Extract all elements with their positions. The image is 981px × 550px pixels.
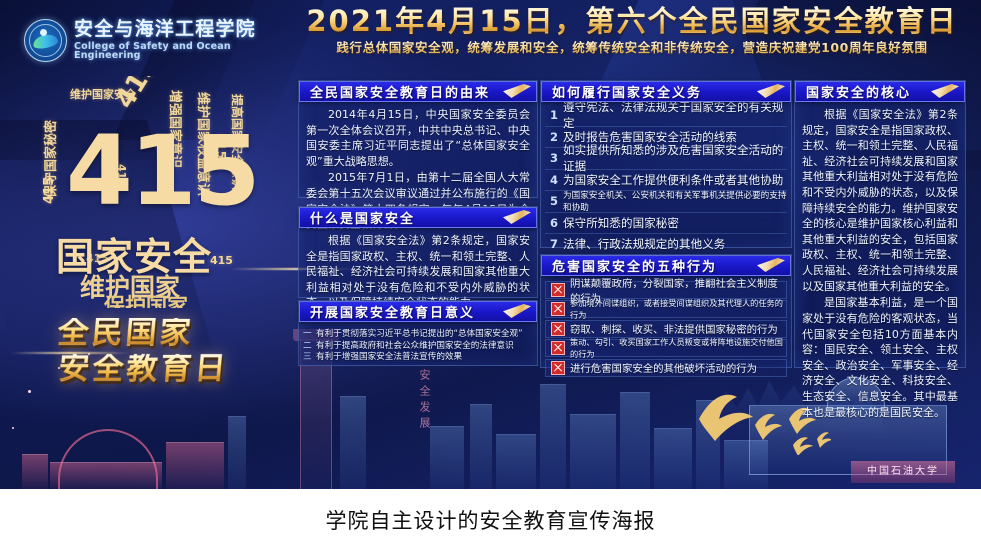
row-text: 为国家安全机关、公安机关和有关军事机关提供必要的支持和协助 bbox=[563, 189, 787, 213]
item-text: 有利于贯彻落实习近平总书记提出的“总体国家安全观” bbox=[316, 327, 523, 339]
row-number: 2 bbox=[545, 130, 563, 144]
item-text: 参加境外间谍组织，或者接受间谍组织及其代理人的任务的行为 bbox=[570, 297, 786, 321]
ribbon-icon bbox=[757, 84, 785, 98]
panel-what: 什么是国家安全 根据《国家安全法》第2条规定，国家安全是指国家政权、主权、统一和… bbox=[298, 206, 538, 298]
row-text: 保守所知悉的国家秘密 bbox=[563, 215, 679, 231]
paragraph: 根据《国家安全法》第2条规定，国家安全是指国家政权、主权、统一和领土完整、人民福… bbox=[802, 107, 958, 294]
panel-core: 国家安全的核心 根据《国家安全法》第2条规定，国家安全是指国家政权、主权、统一和… bbox=[794, 80, 966, 368]
panel-acts: 危害国家安全的五种行为 阴谋颠覆政府，分裂国家，推翻社会主义制度的行为 参加境外… bbox=[540, 254, 792, 368]
college-logo: 安全与海洋工程学院 College of Safety and Ocean En… bbox=[24, 12, 279, 68]
list-item: 窃取、刺探、收买、非法提供国家秘密的行为 bbox=[545, 320, 787, 338]
panel-what-header: 什么是国家安全 bbox=[299, 207, 537, 228]
ribbon-icon bbox=[503, 304, 531, 318]
item-text: 有利于提高政府和社会公众维护国家安全的法律意识 bbox=[316, 339, 514, 351]
list-item: 二有利于提高政府和社会公众维护国家安全的法律意识 bbox=[303, 339, 533, 351]
word-cloud-shield: 保守国家秘密 维护国家安全 增强国家意识 维护国家权益意识 提高国家安全意识 4… bbox=[28, 76, 296, 308]
pagoda-label: 安全发展 bbox=[372, 369, 432, 479]
wordmark-line-1: 全民国家 bbox=[56, 318, 233, 349]
list-item: 策动、勾引、收买国家工作人员叛变或将阵地设施交付他国的行为 bbox=[545, 339, 787, 357]
list-item: 进行危害国家安全的其他破坏活动的行为 bbox=[545, 359, 787, 377]
prohibited-icon bbox=[551, 341, 565, 355]
panel-origin-header: 全民国家安全教育日的由来 bbox=[299, 81, 537, 102]
panel-meaning: 开展国家安全教育日意义 一有利于贯彻落实习近平总书记提出的“总体国家安全观” 二… bbox=[298, 300, 538, 366]
acts-list: 阴谋颠覆政府，分裂国家，推翻社会主义制度的行为 参加境外间谍组织，或者接受间谍组… bbox=[541, 276, 791, 377]
panel-core-body: 根据《国家安全法》第2条规定，国家安全是指国家政权、主权、统一和领土完整、人民福… bbox=[795, 102, 965, 424]
row-text: 遵守宪法、法律法规关于国家安全的有关规定 bbox=[563, 99, 787, 131]
row-number: 4 bbox=[545, 173, 563, 187]
panel-core-title: 国家安全的核心 bbox=[796, 82, 911, 101]
row-number: 6 bbox=[545, 216, 563, 230]
row-number: 5 bbox=[545, 194, 563, 208]
cloud-number: 415 bbox=[42, 177, 57, 204]
panel-acts-title: 危害国家安全的五种行为 bbox=[542, 256, 717, 275]
prohibited-icon bbox=[551, 322, 565, 336]
panel-duties-header: 如何履行国家安全义务 bbox=[541, 81, 791, 102]
college-name-cn: 安全与海洋工程学院 bbox=[74, 20, 279, 39]
poster-subtitle: 践行总体国家安全观，统筹发展和安全，统筹传统安全和非传统安全，营造庆祝建党100… bbox=[292, 41, 972, 55]
cloud-big-number: 415 bbox=[66, 128, 257, 214]
list-item: 阴谋颠覆政府，分裂国家，推翻社会主义制度的行为 bbox=[545, 281, 787, 299]
table-row: 7法律、行政法规规定的其他义务 bbox=[545, 234, 787, 255]
paragraph: 是国家基本利益，是一个国家处于没有危险的客观状态，当代国家安全包括10方面基本内… bbox=[802, 295, 958, 420]
panel-meaning-title: 开展国家安全教育日意义 bbox=[300, 302, 475, 321]
table-row: 6保守所知悉的国家秘密 bbox=[545, 213, 787, 235]
prohibited-icon bbox=[551, 361, 565, 375]
panel-acts-header: 危害国家安全的五种行为 bbox=[541, 255, 791, 276]
row-number: 7 bbox=[545, 237, 563, 251]
poster-title-block: 2021年4月15日，第六个全民国家安全教育日 践行总体国家安全观，统筹发展和安… bbox=[292, 6, 972, 55]
row-number: 3 bbox=[545, 151, 563, 165]
panel-duties: 如何履行国家安全义务 1遵守宪法、法律法规关于国家安全的有关规定 2及时报告危害… bbox=[540, 80, 792, 248]
panel-origin: 全民国家安全教育日的由来 2014年4月15日，中央国家安全委员会第一次全体会议… bbox=[298, 80, 538, 198]
panel-duties-title: 如何履行国家安全义务 bbox=[542, 82, 702, 101]
item-text: 进行危害国家安全的其他破坏活动的行为 bbox=[570, 360, 757, 375]
poster: 安全发展 中国石油大学 安全与海洋工程 bbox=[0, 0, 981, 489]
poster-title: 2021年4月15日，第六个全民国家安全教育日 bbox=[292, 6, 972, 37]
meaning-list: 一有利于贯彻落实习近平总书记提出的“总体国家安全观” 二有利于提高政府和社会公众… bbox=[299, 322, 537, 362]
panel-core-header: 国家安全的核心 bbox=[795, 81, 965, 102]
row-text: 为国家安全工作提供便利条件或者其他协助 bbox=[563, 172, 783, 188]
event-wordmark: 全民国家 安全教育日 bbox=[53, 318, 233, 385]
image-caption: 学院自主设计的安全教育宣传海报 bbox=[0, 489, 981, 550]
table-row: 4为国家安全工作提供便利条件或者其他协助 bbox=[545, 170, 787, 192]
table-row: 5为国家安全机关、公安机关和有关军事机关提供必要的支持和协助 bbox=[545, 191, 787, 213]
panel-meaning-header: 开展国家安全教育日意义 bbox=[299, 301, 537, 322]
caption-text: 学院自主设计的安全教育宣传海报 bbox=[326, 505, 656, 535]
wordmark-line-2: 安全教育日 bbox=[57, 354, 230, 385]
row-number: 1 bbox=[545, 108, 563, 122]
ribbon-icon bbox=[503, 210, 531, 224]
row-text: 法律、行政法规规定的其他义务 bbox=[563, 236, 725, 252]
list-item: 参加境外间谍组织，或者接受间谍组织及其代理人的任务的行为 bbox=[545, 300, 787, 318]
prohibited-icon bbox=[551, 283, 565, 297]
row-text: 如实提供所知悉的涉及危害国家安全活动的证据 bbox=[563, 142, 787, 174]
table-row: 3如实提供所知悉的涉及危害国家安全活动的证据 bbox=[545, 148, 787, 170]
college-emblem-icon bbox=[24, 19, 67, 62]
list-item: 一有利于贯彻落实习近平总书记提出的“总体国家安全观” bbox=[303, 327, 533, 339]
list-item: 三有利于增强国家安全法普法宣传的效果 bbox=[303, 350, 533, 362]
paragraph: 2014年4月15日，中央国家安全委员会第一次全体会议召开，中共中央总书记、中央… bbox=[306, 107, 530, 169]
item-text: 有利于增强国家安全法普法宣传的效果 bbox=[316, 350, 462, 362]
cloud-number: 415 bbox=[110, 76, 164, 114]
cloud-number: 415 bbox=[210, 254, 233, 267]
panel-what-title: 什么是国家安全 bbox=[300, 208, 415, 227]
ribbon-icon bbox=[757, 258, 785, 272]
item-marker: 一 bbox=[303, 327, 316, 339]
table-row: 1遵守宪法、法律法规关于国家安全的有关规定 bbox=[545, 105, 787, 127]
college-name-en: College of Safety and Ocean Engineering bbox=[74, 42, 279, 61]
cloud-mid-word: 保护国家 bbox=[104, 290, 188, 308]
ribbon-icon bbox=[931, 84, 959, 98]
panel-origin-title: 全民国家安全教育日的由来 bbox=[300, 82, 490, 101]
item-marker: 三 bbox=[303, 350, 316, 362]
campus-name-plate: 中国石油大学 bbox=[851, 461, 955, 483]
prohibited-icon bbox=[551, 302, 565, 316]
item-text: 窃取、刺探、收买、非法提供国家秘密的行为 bbox=[570, 321, 778, 336]
item-marker: 二 bbox=[303, 339, 316, 351]
item-text: 策动、勾引、收买国家工作人员叛变或将阵地设施交付他国的行为 bbox=[570, 336, 786, 360]
duties-list: 1遵守宪法、法律法规关于国家安全的有关规定 2及时报告危害国家安全活动的线索 3… bbox=[541, 102, 791, 255]
ribbon-icon bbox=[503, 84, 531, 98]
